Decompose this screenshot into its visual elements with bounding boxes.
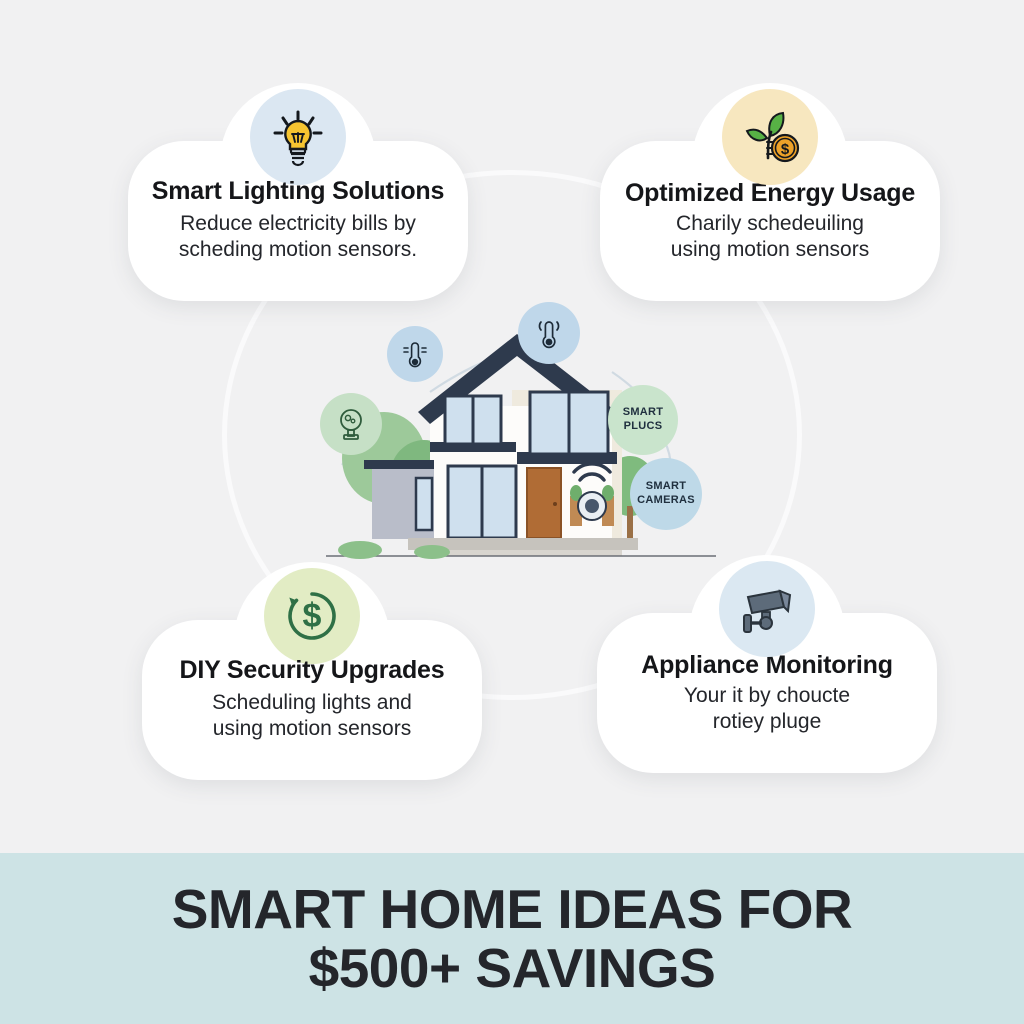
- card-desc-line2: using motion sensors: [671, 238, 869, 261]
- node-smart-plugs: SMART PLUCS: [608, 385, 678, 455]
- banner-line-2: $500+ SAVINGS: [309, 939, 716, 998]
- node-smart-plugs-label: SMART PLUCS: [623, 406, 664, 434]
- svg-text:$: $: [781, 141, 790, 158]
- card-title: Smart Lighting Solutions: [152, 178, 444, 206]
- plant-coin-icon: $: [737, 106, 803, 168]
- plant-coin-icon-wrap: $: [722, 89, 818, 185]
- node-thermostat-left: [387, 326, 443, 382]
- lightbulb-icon-wrap: [250, 89, 346, 185]
- card-desc-line1: Your it by choucte: [684, 684, 850, 707]
- motion-sensor-icon: [332, 405, 370, 443]
- card-description: Your it by choucte rotiey pluge: [684, 683, 850, 734]
- smart-cameras-line1: SMART: [646, 480, 687, 492]
- bottom-banner: SMART HOME IDEAS FOR $500+ SAVINGS: [0, 853, 1024, 1024]
- card-description: Scheduling lights and using motion senso…: [212, 690, 412, 741]
- lightbulb-icon: [267, 106, 329, 168]
- card-title: DIY Security Upgrades: [180, 657, 445, 685]
- smart-plugs-line2: PLUCS: [624, 420, 663, 432]
- card-desc-line2: scheding motion sensors.: [179, 238, 417, 261]
- card-description: Reduce electricity bills by scheding mot…: [179, 211, 417, 262]
- card-desc-line1: Charily schedeuiling: [676, 212, 864, 235]
- banner-line-1: SMART HOME IDEAS FOR: [172, 880, 853, 939]
- node-thermostat-top: [518, 302, 580, 364]
- security-camera-icon: [736, 581, 798, 637]
- node-motion-sensor: [320, 393, 382, 455]
- smart-plugs-line1: SMART: [623, 406, 664, 418]
- card-optimized-energy[interactable]: $ Optimized Energy Usage Charily schedeu…: [600, 141, 940, 301]
- card-desc-line1: Reduce electricity bills by: [180, 212, 416, 235]
- node-smart-cameras-label: SMART CAMERAS: [637, 480, 695, 508]
- svg-text:$: $: [303, 597, 322, 635]
- money-refresh-icon: $: [282, 586, 342, 646]
- card-desc-line2: rotiey pluge: [713, 710, 822, 733]
- smart-cameras-line2: CAMERAS: [637, 494, 695, 506]
- card-appliance-monitoring[interactable]: Appliance Monitoring Your it by choucte …: [597, 613, 937, 773]
- money-refresh-icon-wrap: $: [264, 568, 360, 664]
- node-smart-cameras: SMART CAMERAS: [630, 458, 702, 530]
- card-desc-line2: using motion sensors: [213, 717, 411, 740]
- security-camera-icon-wrap: [719, 561, 815, 657]
- thermometer-icon: [398, 337, 432, 371]
- card-description: Charily schedeuiling using motion sensor…: [671, 211, 869, 262]
- card-diy-security[interactable]: $ DIY Security Upgrades Scheduling light…: [142, 620, 482, 780]
- thermometer-signal-icon: [530, 314, 568, 352]
- card-desc-line1: Scheduling lights and: [212, 691, 412, 714]
- card-smart-lighting[interactable]: Smart Lighting Solutions Reduce electric…: [128, 141, 468, 301]
- infographic-root: SMART PLUCS SMART CAMERAS: [0, 0, 1024, 1024]
